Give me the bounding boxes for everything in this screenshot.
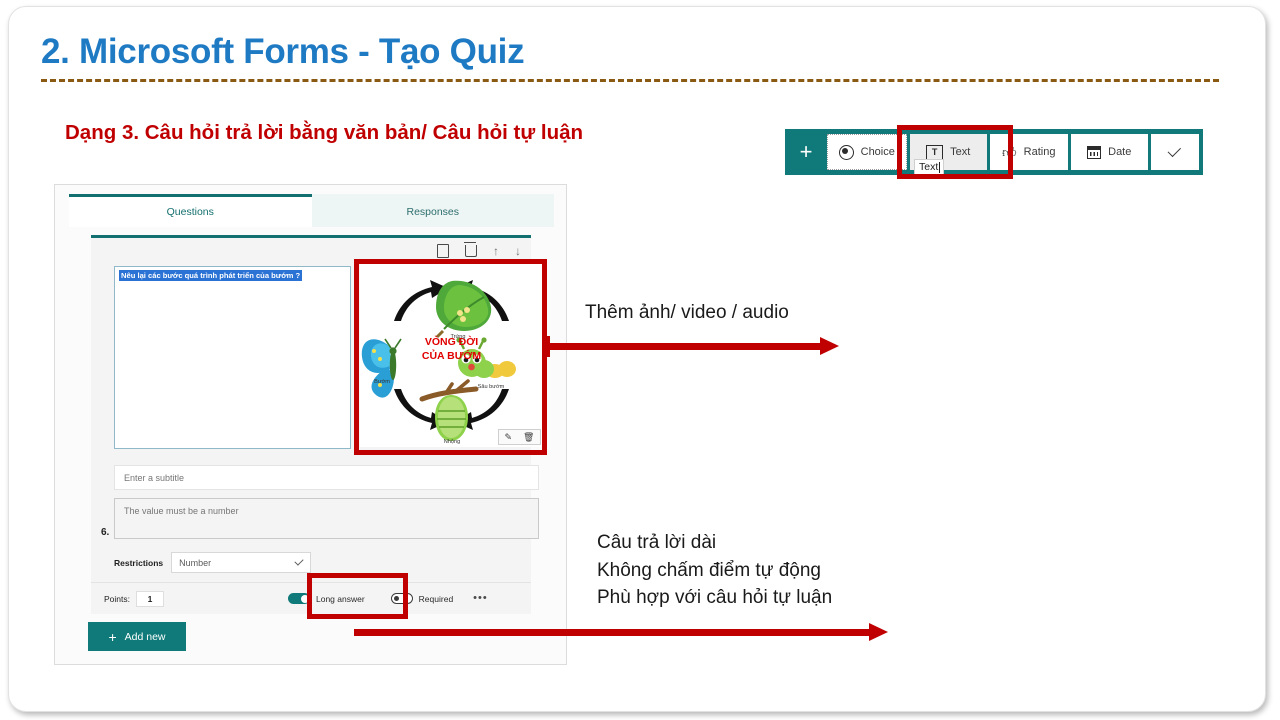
question-card-toolbar: ↑ ↓ — [437, 244, 521, 258]
page-title: 2. Microsoft Forms - Tạo Quiz — [41, 32, 524, 72]
slide-canvas: 2. Microsoft Forms - Tạo Quiz Dạng 3. Câ… — [8, 6, 1266, 712]
question-type-date[interactable]: Date — [1071, 134, 1149, 170]
move-down-icon[interactable]: ↓ — [515, 245, 521, 257]
add-question-button[interactable]: + — [785, 129, 827, 175]
question-type-list: Choice T Text 👍︎ Rating Date — [827, 129, 1203, 175]
section-subtitle: Dạng 3. Câu hỏi trả lời bằng văn bản/ Câ… — [65, 121, 583, 145]
restrictions-row: Restrictions Number — [114, 552, 311, 573]
radio-icon — [839, 145, 854, 160]
question-number: 6. — [101, 527, 109, 538]
note-long-answer: Câu trả lời dài Không chấm điểm tự động … — [597, 529, 832, 612]
tab-responses[interactable]: Responses — [312, 194, 555, 227]
add-new-button[interactable]: + Add new — [88, 622, 186, 651]
question-title-text: Nêu lại các bước quá trình phát triển củ… — [119, 270, 302, 281]
panel-tabs: Questions Responses — [69, 194, 554, 227]
add-new-label: Add new — [125, 631, 166, 643]
move-up-icon[interactable]: ↑ — [493, 245, 499, 257]
question-type-date-label: Date — [1108, 146, 1131, 158]
highlight-box-text-type — [897, 125, 1013, 179]
calendar-icon — [1087, 146, 1101, 159]
points-input[interactable]: 1 — [136, 591, 164, 607]
copy-icon[interactable] — [437, 244, 449, 258]
restrictions-value: Number — [179, 558, 211, 568]
question-type-choice-label: Choice — [861, 146, 895, 158]
more-question-types-button[interactable] — [1151, 134, 1199, 170]
highlight-box-image — [354, 259, 547, 455]
subtitle-input[interactable]: Enter a subtitle — [114, 465, 539, 490]
delete-icon[interactable] — [465, 245, 477, 257]
note-media: Thêm ảnh/ video / audio — [585, 299, 789, 327]
restrictions-select[interactable]: Number — [171, 552, 311, 573]
answer-value-input[interactable]: The value must be a number — [114, 498, 539, 539]
question-type-rating-label: Rating — [1024, 146, 1056, 158]
chevron-down-icon — [1168, 143, 1181, 156]
required-label: Required — [419, 594, 454, 604]
plus-icon: + — [108, 629, 116, 645]
restrictions-label: Restrictions — [114, 558, 163, 568]
more-options-button[interactable]: ••• — [473, 596, 488, 600]
tab-questions[interactable]: Questions — [69, 194, 312, 227]
highlight-box-long-answer — [307, 573, 408, 619]
points-label: Points: — [104, 594, 130, 604]
title-divider — [41, 79, 1219, 82]
question-type-choice[interactable]: Choice — [827, 134, 907, 170]
chevron-down-icon — [295, 556, 304, 565]
question-title-input[interactable]: Nêu lại các bước quá trình phát triển củ… — [114, 266, 351, 449]
